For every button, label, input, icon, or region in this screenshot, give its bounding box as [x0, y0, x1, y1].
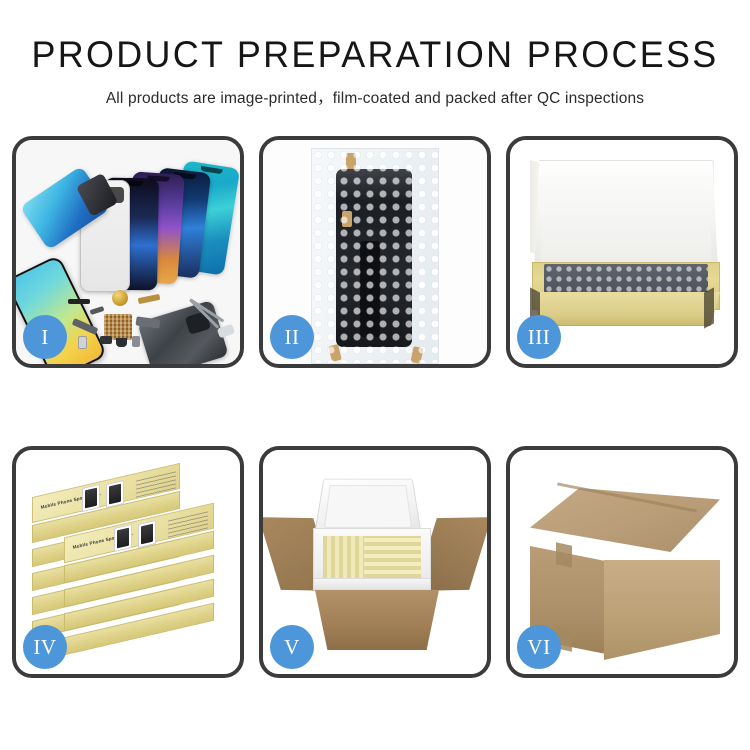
step-badge-2: II — [270, 315, 314, 359]
small-component-f-icon — [116, 338, 127, 347]
process-step-card-6: VI — [506, 446, 738, 678]
step-badge-6: VI — [517, 625, 561, 669]
process-step-card-5: V — [259, 446, 491, 678]
header: PRODUCT PREPARATION PROCESS All products… — [0, 0, 750, 108]
retail-box-window-b1 — [114, 524, 132, 552]
process-step-card-2: II — [259, 136, 491, 368]
packed-boxes-inside-icon — [323, 536, 421, 578]
tape-tab-d-icon — [410, 346, 423, 364]
retail-box-window-b2 — [138, 520, 156, 548]
process-step-grid: I II — [12, 136, 738, 688]
retail-box-window-a1 — [82, 484, 100, 512]
connector-bar-icon — [68, 299, 90, 304]
step-badge-1: I — [23, 315, 67, 359]
step-badge-5: V — [270, 625, 314, 669]
page-subtitle: All products are image-printed，film-coat… — [0, 86, 750, 108]
tape-tab-b-icon — [342, 211, 352, 227]
box-lid-panel-icon — [534, 160, 718, 270]
tweezers-tool-icon — [190, 298, 234, 338]
carton-body-icon — [315, 590, 439, 650]
process-step-card-1: I — [12, 136, 244, 368]
page-title: PRODUCT PREPARATION PROCESS — [11, 36, 739, 75]
packed-boxes-row-left — [323, 536, 364, 578]
packed-boxes-row-right — [364, 536, 421, 578]
step-badge-3: III — [517, 315, 561, 359]
small-component-e-icon — [78, 336, 87, 349]
step-badge-4: IV — [23, 625, 67, 669]
foam-container-rim-icon — [313, 578, 431, 590]
tape-tab-c-icon — [328, 344, 342, 362]
carton-tape-upper-icon — [556, 542, 572, 567]
small-component-g-icon — [132, 336, 140, 347]
product-preparation-infographic: PRODUCT PREPARATION PROCESS All products… — [0, 0, 750, 750]
carton-right-face-icon — [604, 560, 720, 660]
box-side-shadow-right — [704, 287, 714, 328]
process-step-card-4: Mobile Phone Spare Parts Mobile Phone Sp… — [12, 446, 244, 678]
process-step-card-3: III — [506, 136, 738, 368]
retail-box-window-a2 — [106, 480, 124, 508]
box-front-face-icon — [532, 292, 720, 326]
bubble-wrap-bag-icon — [311, 148, 439, 364]
tape-tab-a-icon — [346, 153, 356, 169]
speaker-module-icon — [112, 290, 128, 306]
lcd-screen-assembly-icon — [336, 169, 412, 347]
small-component-d-icon — [100, 336, 112, 344]
